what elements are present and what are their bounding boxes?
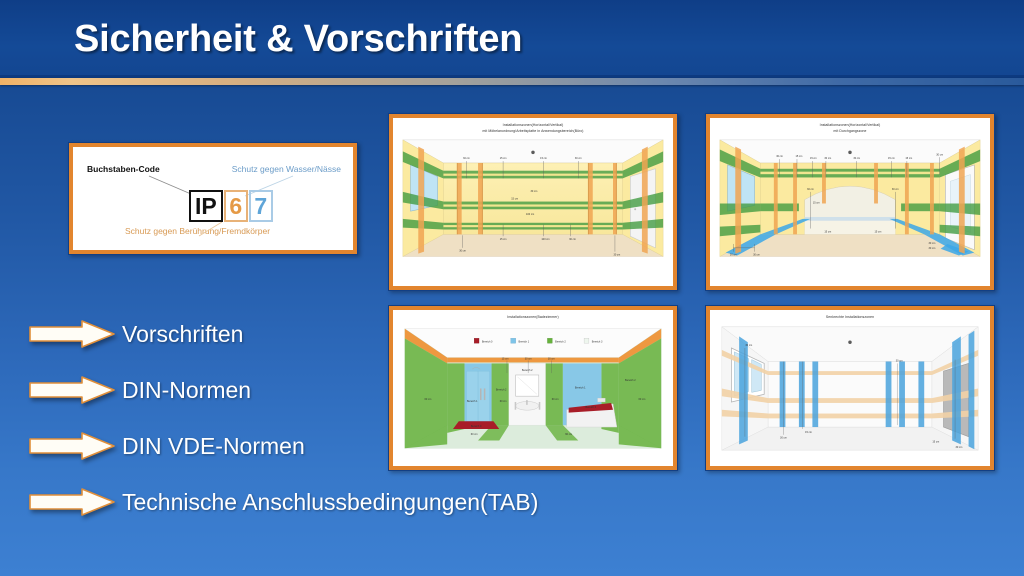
- svg-text:30 cm: 30 cm: [745, 344, 752, 347]
- bullet-label-1: DIN-Normen: [122, 377, 251, 404]
- svg-text:Bereich 0: Bereich 0: [471, 425, 482, 428]
- svg-text:100 cm: 100 cm: [526, 213, 534, 216]
- figure-br-caption: Senkrechte Installationszonen: [716, 315, 984, 319]
- svg-text:30 cm: 30 cm: [807, 187, 814, 190]
- figure-installationszonen-durchgang: Installationszonen(Horizontal/Vertikal) …: [705, 113, 995, 291]
- figure-bl-caption: Installationszonen(Badezimmer): [399, 315, 667, 319]
- svg-text:15 cm: 15 cm: [500, 157, 507, 160]
- arrow-right-icon: [28, 487, 116, 517]
- ip-digit-second-box: 7: [249, 190, 273, 222]
- room-diagram-bl: Bereich 0 Bereich 0 Bereich 2: [399, 321, 667, 454]
- ip-figure-inner: Buchstaben-Code Schutz gegen Wasser/Näss…: [79, 152, 347, 245]
- room-diagram-tl: 30 cm 15 cm 15 cm 30 cm 30 cm 100 cm 15 …: [399, 136, 667, 260]
- svg-text:Bereich 3: Bereich 3: [592, 341, 603, 344]
- figure-tr-caption-line2: mit Durchgangszone: [716, 129, 984, 133]
- page-title: Sicherheit & Vorschriften: [74, 18, 522, 61]
- arrow-right-icon: [28, 319, 116, 349]
- svg-text:30 cm: 30 cm: [929, 241, 936, 244]
- ip-code-figure: Buchstaben-Code Schutz gegen Wasser/Näss…: [68, 142, 358, 255]
- svg-text:Bereich 1: Bereich 1: [519, 341, 530, 344]
- svg-text:15 cm: 15 cm: [540, 157, 547, 160]
- figure-bl-mat: Installationszonen(Badezimmer): [393, 310, 673, 466]
- svg-text:15 cm: 15 cm: [932, 441, 939, 444]
- figure-installationszonen-bad: Installationszonen(Badezimmer): [388, 305, 678, 471]
- bullet-row-tab[interactable]: Technische Anschlussbedingungen(TAB): [28, 487, 538, 517]
- svg-text:Bereich 1: Bereich 1: [575, 387, 586, 390]
- figure-tr-mat: Installationszonen(Horizontal/Vertikal) …: [710, 118, 990, 286]
- svg-text:30 cm: 30 cm: [896, 360, 903, 363]
- svg-text:15 cm: 15 cm: [805, 431, 812, 434]
- svg-text:30 cm: 30 cm: [824, 157, 831, 160]
- svg-text:Bereich 2: Bereich 2: [555, 341, 566, 344]
- svg-text:30 cm: 30 cm: [956, 446, 963, 449]
- svg-text:15 cm: 15 cm: [824, 230, 831, 233]
- svg-text:100 cm: 100 cm: [541, 238, 549, 241]
- svg-text:15 cm: 15 cm: [810, 157, 817, 160]
- figure-senkrechte-installationszonen: Senkrechte Installationszonen: [705, 305, 995, 471]
- arrow-right-icon: [28, 431, 116, 461]
- slide-root: Sicherheit & Vorschriften Buchstaben-Cod…: [0, 0, 1024, 576]
- svg-text:60 cm: 60 cm: [552, 398, 559, 401]
- figure-tr-caption-line1: Installationszonen(Horizontal/Vertikal): [716, 123, 984, 127]
- ip-letters-box: IP: [189, 190, 223, 222]
- svg-text:30 cm: 30 cm: [753, 253, 760, 256]
- svg-text:60 cm: 60 cm: [639, 398, 646, 401]
- svg-text:Bereich 1: Bereich 1: [467, 400, 478, 403]
- svg-text:30 cm: 30 cm: [780, 437, 787, 440]
- svg-text:Bereich 0: Bereich 0: [482, 341, 493, 344]
- ip-code-boxes: IP 6 7: [189, 190, 273, 222]
- svg-text:30 cm: 30 cm: [892, 187, 899, 190]
- svg-text:30 cm: 30 cm: [613, 253, 620, 256]
- svg-text:Bereich 0: Bereich 0: [586, 406, 597, 409]
- ip-figure-mat: Buchstaben-Code Schutz gegen Wasser/Näss…: [73, 147, 353, 250]
- svg-text:30 cm: 30 cm: [459, 249, 466, 252]
- bullet-label-3: Technische Anschlussbedingungen(TAB): [122, 489, 538, 516]
- svg-text:30 cm: 30 cm: [730, 253, 737, 256]
- svg-text:15 cm: 15 cm: [795, 155, 802, 158]
- svg-text:30 cm: 30 cm: [463, 157, 470, 160]
- svg-text:60 cm: 60 cm: [471, 433, 478, 436]
- svg-text:60 cm: 60 cm: [500, 400, 507, 403]
- svg-text:60 cm: 60 cm: [425, 398, 432, 401]
- svg-text:60 cm: 60 cm: [565, 433, 572, 436]
- figure-installationszonen-buero: Installationszonen(Horizontal/Vertikal) …: [388, 113, 678, 291]
- svg-text:30 cm: 30 cm: [525, 358, 532, 361]
- arrow-right-icon: [28, 375, 116, 405]
- svg-text:Bereich 2: Bereich 2: [496, 389, 507, 392]
- figure-tl-caption-line1: Installationszonen(Horizontal/Vertikal): [399, 123, 667, 127]
- bullet-label-0: Vorschriften: [122, 321, 243, 348]
- bullet-row-din-normen[interactable]: DIN-Normen: [28, 375, 251, 405]
- svg-text:30 cm: 30 cm: [548, 358, 555, 361]
- figure-tr-body: 30 cm 15 cm 15 cm 30 cm 30 cm 15 cm 15 c…: [716, 136, 984, 265]
- svg-text:15 cm: 15 cm: [813, 201, 820, 204]
- svg-text:15 cm: 15 cm: [502, 358, 509, 361]
- svg-text:30 cm: 30 cm: [569, 238, 576, 241]
- svg-text:Bereich 2: Bereich 2: [522, 369, 533, 372]
- svg-text:15 cm: 15 cm: [511, 197, 518, 200]
- svg-text:30 cm: 30 cm: [936, 153, 943, 156]
- figure-tl-mat: Installationszonen(Horizontal/Vertikal) …: [393, 118, 673, 286]
- figure-tl-body: 30 cm 15 cm 15 cm 30 cm 30 cm 100 cm 15 …: [399, 136, 667, 265]
- bullet-label-2: DIN VDE-Normen: [122, 433, 305, 460]
- title-rule: [0, 78, 1024, 85]
- svg-text:15 cm: 15 cm: [875, 230, 882, 233]
- figure-br-body: 30 cm 30 cm 15 cm 30 cm 15 cm 30 cm: [716, 321, 984, 459]
- svg-text:Bereich 2: Bereich 2: [625, 379, 636, 382]
- svg-text:30 cm: 30 cm: [853, 157, 860, 160]
- figure-br-mat: Senkrechte Installationszonen: [710, 310, 990, 466]
- svg-text:15 cm: 15 cm: [905, 157, 912, 160]
- bullet-row-din-vde-normen[interactable]: DIN VDE-Normen: [28, 431, 305, 461]
- figure-bl-body: Bereich 0 Bereich 0 Bereich 2: [399, 321, 667, 459]
- ip-digit-first-box: 6: [224, 190, 248, 222]
- room-diagram-br: 30 cm 30 cm 15 cm 30 cm 15 cm 30 cm: [716, 321, 984, 454]
- room-diagram-tr: 30 cm 15 cm 15 cm 30 cm 30 cm 15 cm 15 c…: [716, 136, 984, 260]
- svg-text:30 cm: 30 cm: [575, 157, 582, 160]
- svg-text:30 cm: 30 cm: [776, 155, 783, 158]
- figure-tl-caption-line2: mit Möbelanordnung/Arbeitsplatte in Anwe…: [399, 129, 667, 133]
- svg-text:30 cm: 30 cm: [929, 246, 936, 249]
- svg-text:15 cm: 15 cm: [888, 157, 895, 160]
- svg-text:30 cm: 30 cm: [531, 189, 538, 192]
- svg-text:15 cm: 15 cm: [500, 238, 507, 241]
- bullet-row-vorschriften[interactable]: Vorschriften: [28, 319, 243, 349]
